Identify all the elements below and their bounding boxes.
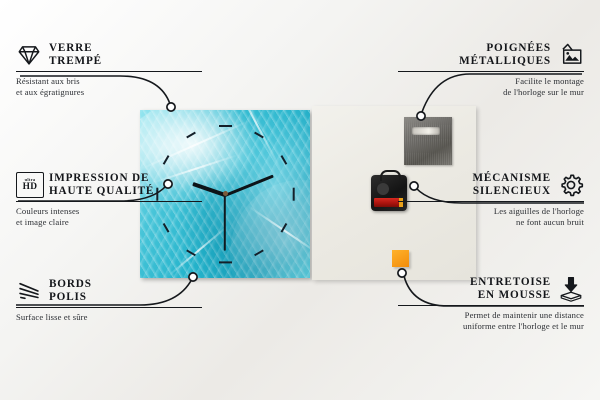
feature-poignees-rule [398, 71, 584, 72]
feature-verre-trempe: VERRE TREMPÉ Résistant aux bris et aux é… [16, 42, 202, 97]
diamond-icon [16, 42, 42, 68]
feature-impression-title: IMPRESSION DE HAUTE QUALITÉ [49, 172, 154, 197]
feature-entretoise-desc: Permet de maintenir une distance uniform… [398, 310, 584, 331]
wire-dot-poignees [417, 112, 425, 120]
feature-impression-desc: Couleurs intenses et image claire [16, 206, 202, 227]
feature-poignees-title: POIGNÉES MÉTALLIQUES [459, 42, 551, 67]
ultra-hd-big-label: HD [23, 183, 38, 192]
feature-entretoise-rule [398, 305, 584, 306]
feature-entretoise-title: ENTRETOISE EN MOUSSE [470, 276, 551, 301]
feature-mecanisme-desc: Les aiguilles de l'horloge ne font aucun… [398, 206, 584, 227]
wire-dot-verre [167, 103, 175, 111]
feature-impression: ultra HD IMPRESSION DE HAUTE QUALITÉ Cou… [16, 172, 202, 227]
feature-mecanisme-title: MÉCANISME SILENCIEUX [472, 172, 551, 197]
infographic-canvas: VERRE TREMPÉ Résistant aux bris et aux é… [0, 0, 600, 400]
feature-poignees-metalliques: POIGNÉES MÉTALLIQUES Facilite le montage… [398, 42, 584, 97]
feature-impression-rule [16, 201, 202, 202]
feature-mecanisme-rule [398, 201, 584, 202]
feature-verre-rule [16, 71, 202, 72]
gear-icon [558, 172, 584, 198]
feature-mecanisme-silencieux: MÉCANISME SILENCIEUX Les aiguilles de l'… [398, 172, 584, 227]
feature-verre-desc: Résistant aux bris et aux égratignures [16, 76, 202, 97]
feature-bords-polis: BORDS POLIS Surface lisse et sûre [16, 278, 202, 323]
feature-bords-desc: Surface lisse et sûre [16, 312, 202, 322]
foam-spacer-arrow-icon [558, 276, 584, 302]
feature-bords-rule [16, 307, 202, 308]
feature-bords-title: BORDS POLIS [49, 278, 92, 303]
polished-edges-icon [16, 278, 42, 304]
wall-mount-frame-icon [558, 42, 584, 68]
ultra-hd-icon: ultra HD [16, 172, 42, 198]
feature-verre-title: VERRE TREMPÉ [49, 42, 102, 67]
feature-poignees-desc: Facilite le montage de l'horloge sur le … [398, 76, 584, 97]
feature-entretoise-en-mousse: ENTRETOISE EN MOUSSE Permet de maintenir… [398, 276, 584, 331]
